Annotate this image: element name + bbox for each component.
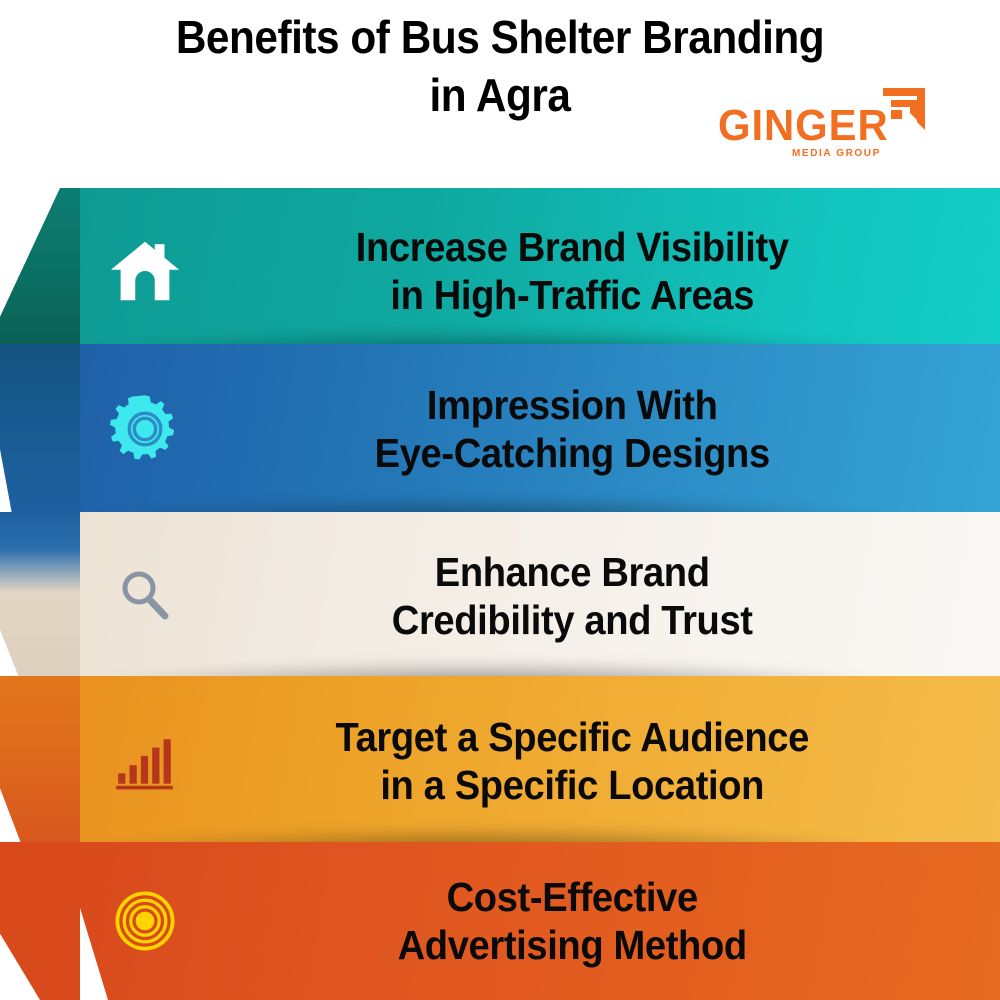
benefit-band-impression-with-eye-catching-designs[interactable]: Impression With Eye-Catching Designs	[0, 344, 1000, 514]
band-icon-slot	[60, 564, 230, 628]
band-icon-slot	[60, 232, 230, 310]
band-label: Enhance Brand Credibility and Trust	[257, 548, 973, 644]
magnifier-icon	[113, 564, 177, 628]
band-label: Increase Brand Visibility in High-Traffi…	[257, 223, 973, 319]
band-icon-slot	[60, 728, 230, 794]
benefit-band-increase-brand-visibility[interactable]: Increase Brand Visibility in High-Traffi…	[0, 188, 1000, 353]
logo-wordmark: GINGER	[718, 104, 889, 148]
logo-tagline: MEDIA GROUP	[792, 148, 881, 159]
bar-chart-icon	[112, 728, 178, 794]
house-icon	[106, 232, 184, 310]
band-icon-slot	[60, 886, 230, 956]
benefit-band-enhance-brand-credibility-and-trust[interactable]: Enhance Brand Credibility and Trust	[0, 512, 1000, 680]
bullseye-target-icon	[110, 886, 180, 956]
infographic-header: Benefits of Bus Shelter Branding in Agra…	[0, 0, 1000, 180]
band-label: Impression With Eye-Catching Designs	[257, 381, 973, 477]
benefit-band-target-a-specific-audience[interactable]: Target a Specific Audience in a Specific…	[0, 676, 1000, 846]
benefits-arrow-stack: Increase Brand Visibility in High-Traffi…	[0, 180, 1000, 1000]
band-label: Target a Specific Audience in a Specific…	[257, 713, 973, 809]
ginger-corner-bracket-icon	[881, 86, 927, 132]
brand-logo: GINGER MEDIA GROUP	[718, 86, 928, 166]
band-label: Cost-Effective Advertising Method	[257, 873, 973, 969]
benefit-band-cost-effective-advertising-method[interactable]: Cost-Effective Advertising Method	[0, 842, 1000, 1000]
band-icon-slot	[60, 393, 230, 465]
gear-icon	[109, 393, 181, 465]
